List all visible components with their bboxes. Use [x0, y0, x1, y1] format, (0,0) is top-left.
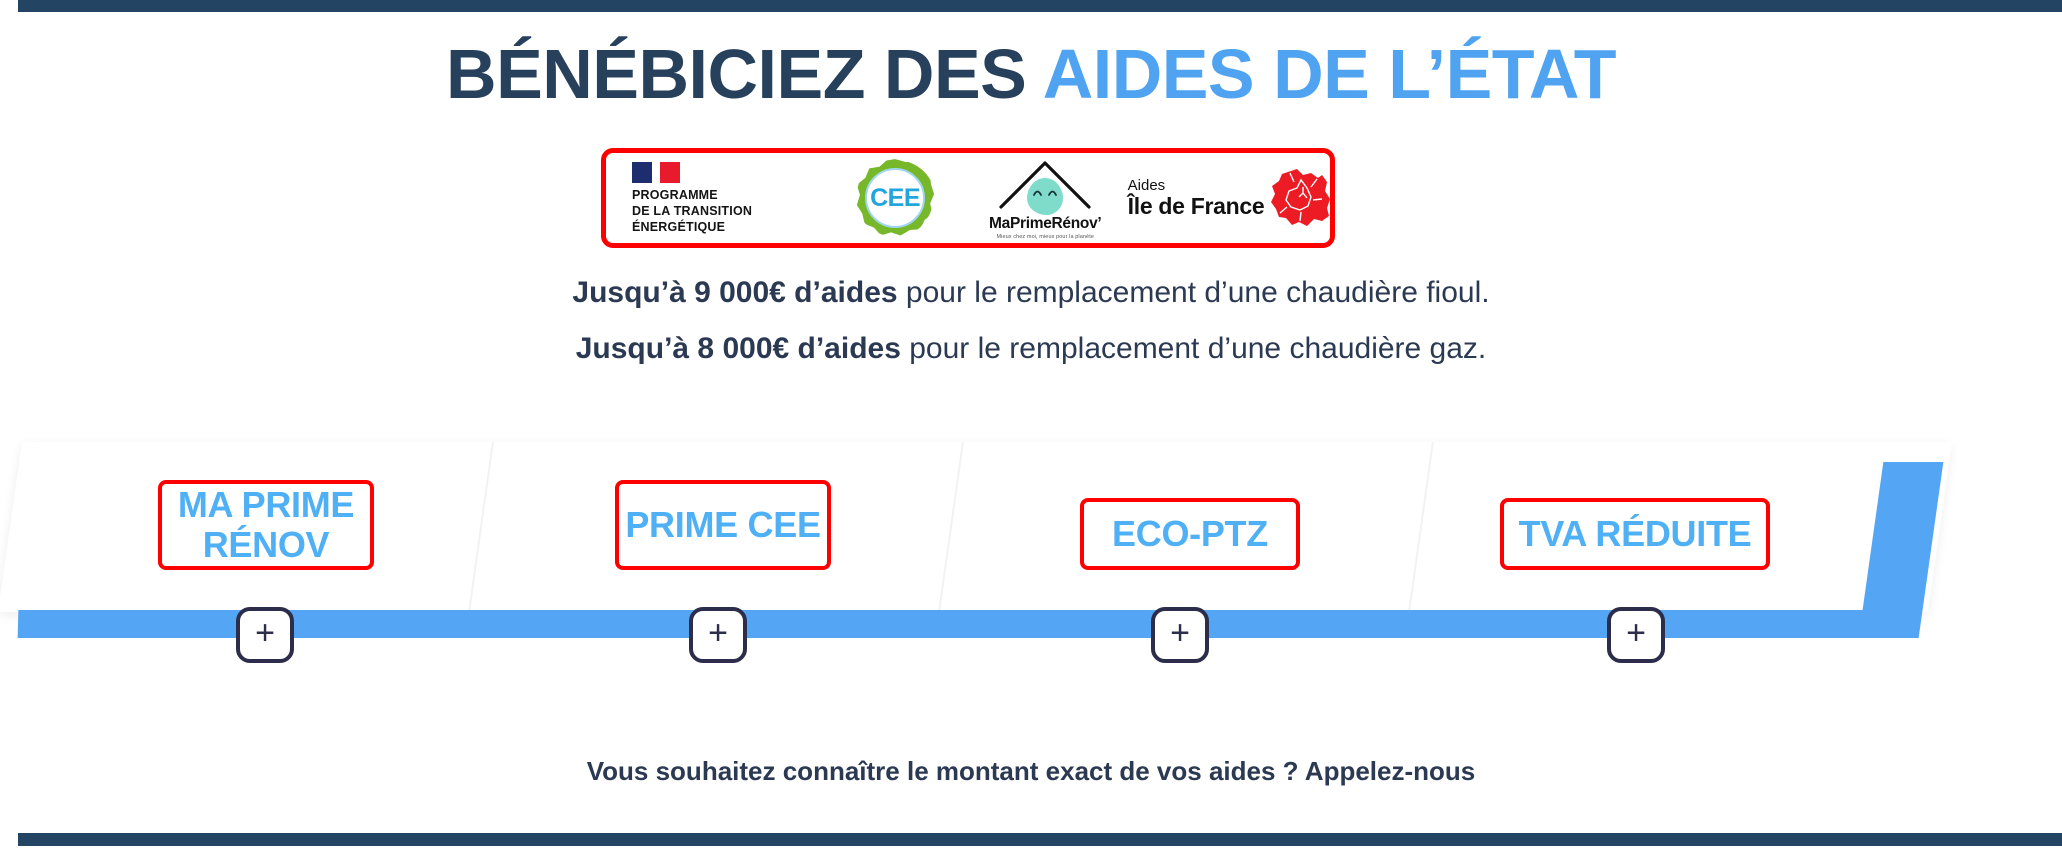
page-root: BÉNÉBICIEZ DES AIDES DE L’ÉTAT PROGRAMME… — [0, 0, 2062, 854]
idf-big-label: Île de France — [1128, 194, 1265, 218]
panel-divider — [938, 442, 964, 612]
pte-line-1: PROGRAMME — [632, 187, 752, 203]
aid-card-ma-prime-renov[interactable]: MA PRIME RÉNOV — [158, 480, 374, 570]
bottom-rule — [18, 833, 2062, 846]
expand-toggle-tva-reduite[interactable]: + — [1607, 607, 1665, 663]
aid-card-label: ECO-PTZ — [1112, 514, 1268, 554]
panel-divider — [1408, 442, 1434, 612]
plus-icon: + — [708, 616, 728, 650]
partner-logo-band: PROGRAMME DE LA TRANSITION ÉNERGÉTIQUE C… — [601, 148, 1335, 248]
aid-amount-strong: Jusqu’à 9 000€ d’aides — [572, 276, 897, 309]
plus-icon: + — [255, 616, 275, 650]
aid-amount-lines: Jusqu’à 9 000€ d’aides pour le remplacem… — [0, 278, 2062, 364]
panel-divider — [468, 442, 494, 612]
plus-icon: + — [1170, 616, 1190, 650]
aid-card-label: PRIME CEE — [625, 505, 820, 545]
logo-aides-ile-de-france: Aides Île de France — [1130, 153, 1330, 243]
ile-de-france-map-icon — [1270, 169, 1332, 227]
expand-toggle-eco-ptz[interactable]: + — [1151, 607, 1209, 663]
pte-line-2: DE LA TRANSITION — [632, 203, 752, 219]
logo-cee: CEE — [830, 153, 961, 243]
page-title-light-part: AIDES DE L’ÉTAT — [1043, 35, 1616, 113]
logo-programme-transition-energetique: PROGRAMME DE LA TRANSITION ÉNERGÉTIQUE — [606, 153, 830, 243]
contact-cta-text: Vous souhaitez connaître le montant exac… — [0, 756, 2062, 787]
aid-card-label: MA PRIME RÉNOV — [162, 485, 370, 566]
expand-toggle-ma-prime-renov[interactable]: + — [236, 607, 294, 663]
aid-card-tva-reduite[interactable]: TVA RÉDUITE — [1500, 498, 1770, 570]
maprimerenov-house-icon — [997, 157, 1093, 211]
page-title-dark-part: BÉNÉBICIEZ DES — [446, 35, 1043, 113]
logo-maprimerenov: MaPrimeRénov’ Mieux chez moi, mieux pour… — [960, 153, 1130, 243]
cee-label: CEE — [870, 184, 920, 213]
aid-card-label: TVA RÉDUITE — [1519, 514, 1752, 554]
aid-amount-strong: Jusqu’à 8 000€ d’aides — [576, 332, 901, 365]
aid-amount-rest: pour le remplacement d’une chaudière fio… — [898, 276, 1490, 309]
cee-badge-icon: CEE — [856, 159, 934, 237]
aid-amount-line: Jusqu’à 8 000€ d’aides pour le remplacem… — [0, 334, 2062, 364]
top-rule — [18, 0, 2062, 12]
idf-small-label: Aides — [1128, 178, 1265, 194]
pte-line-3: ÉNERGÉTIQUE — [632, 219, 752, 235]
page-title: BÉNÉBICIEZ DES AIDES DE L’ÉTAT — [0, 38, 2062, 112]
french-flag-icon — [632, 162, 680, 183]
aid-amount-line: Jusqu’à 9 000€ d’aides pour le remplacem… — [0, 278, 2062, 308]
maprimerenov-name: MaPrimeRénov’ — [989, 215, 1101, 233]
aid-card-eco-ptz[interactable]: ECO-PTZ — [1080, 498, 1300, 570]
plus-icon: + — [1626, 616, 1646, 650]
expand-toggle-prime-cee[interactable]: + — [689, 607, 747, 663]
aid-card-prime-cee[interactable]: PRIME CEE — [615, 480, 831, 570]
aid-amount-rest: pour le remplacement d’une chaudière gaz… — [901, 332, 1486, 365]
maprimerenov-tagline: Mieux chez moi, mieux pour la planète — [996, 234, 1094, 240]
